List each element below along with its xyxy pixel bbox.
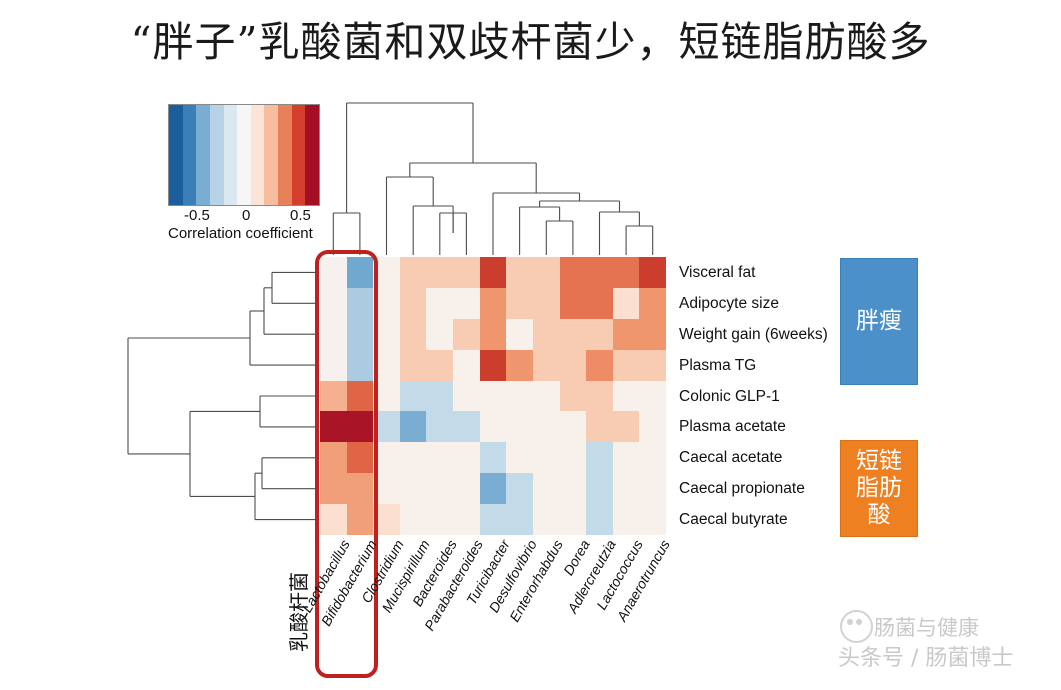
heatmap-cell[interactable] (373, 411, 400, 442)
heatmap-cell[interactable] (639, 442, 666, 473)
watermark: 肠菌与健康 头条号 / 肠菌博士 (838, 604, 1058, 682)
heatmap-cell[interactable] (639, 504, 666, 535)
heatmap-cell[interactable] (426, 350, 453, 381)
heatmap-cell[interactable] (426, 411, 453, 442)
heatmap-cell[interactable] (373, 319, 400, 350)
heatmap-cell[interactable] (613, 442, 640, 473)
heatmap-cell[interactable] (373, 473, 400, 504)
colorbar-band-6 (251, 105, 265, 205)
annotation-box-scfa: 短链脂肪酸 (840, 440, 918, 537)
heatmap-row-label: Caecal acetate (679, 442, 782, 473)
heatmap-cell[interactable] (400, 504, 427, 535)
heatmap-cell[interactable] (506, 319, 533, 350)
heatmap-cell[interactable] (320, 350, 347, 381)
heatmap-cell[interactable] (613, 504, 640, 535)
colorbar-band-5 (237, 105, 251, 205)
page-title: “胖子”乳酸菌和双歧杆菌少，短链脂肪酸多 (0, 8, 1061, 68)
colorbar-tick-0: -0.5 (184, 207, 210, 224)
heatmap-cell[interactable] (373, 257, 400, 288)
heatmap-cell[interactable] (480, 504, 507, 535)
heatmap-cell[interactable] (400, 257, 427, 288)
heatmap-cell[interactable] (453, 257, 480, 288)
heatmap-cell[interactable] (533, 288, 560, 319)
heatmap-cell[interactable] (347, 473, 374, 504)
heatmap-cell[interactable] (586, 473, 613, 504)
heatmap-cell[interactable] (533, 411, 560, 442)
heatmap-cell[interactable] (320, 442, 347, 473)
heatmap-row-label: Colonic GLP-1 (679, 381, 780, 412)
heatmap-cell[interactable] (453, 504, 480, 535)
row-dendrogram (122, 257, 318, 535)
heatmap-cell[interactable] (639, 381, 666, 412)
colorbar-tick-2: 0.5 (290, 207, 311, 224)
heatmap-cell[interactable] (533, 319, 560, 350)
heatmap-cell[interactable] (453, 350, 480, 381)
heatmap-cell[interactable] (506, 257, 533, 288)
heatmap-cell[interactable] (320, 257, 347, 288)
heatmap-row-label: Plasma acetate (679, 411, 786, 442)
heatmap-cell[interactable] (480, 257, 507, 288)
heatmap-cell[interactable] (560, 381, 587, 412)
heatmap-cell[interactable] (586, 381, 613, 412)
heatmap-cell[interactable] (586, 319, 613, 350)
heatmap-cell[interactable] (320, 319, 347, 350)
heatmap-cell[interactable] (613, 473, 640, 504)
colorbar-band-8 (278, 105, 292, 205)
heatmap-cell[interactable] (480, 319, 507, 350)
column-dendrogram (320, 85, 666, 255)
watermark-line-1: 肠菌与健康 (874, 612, 979, 642)
heatmap-cell[interactable] (533, 350, 560, 381)
colorbar-band-7 (264, 105, 278, 205)
heatmap-cell[interactable] (586, 411, 613, 442)
heatmap-cell[interactable] (533, 442, 560, 473)
heatmap-row-label: Caecal butyrate (679, 504, 788, 535)
heatmap-row-label: Visceral fat (679, 257, 755, 288)
heatmap-cell[interactable] (426, 504, 453, 535)
colorbar-band-4 (224, 105, 238, 205)
heatmap-cell[interactable] (400, 350, 427, 381)
heatmap-cell[interactable] (347, 319, 374, 350)
heatmap-cell[interactable] (400, 381, 427, 412)
heatmap-cell[interactable] (613, 257, 640, 288)
heatmap-cell[interactable] (613, 319, 640, 350)
heatmap-cell[interactable] (560, 350, 587, 381)
colorbar-band-0 (169, 105, 183, 205)
heatmap-cell[interactable] (400, 288, 427, 319)
colorbar-gradient (168, 104, 320, 206)
heatmap-cell[interactable] (426, 288, 453, 319)
heatmap-cell[interactable] (400, 411, 427, 442)
heatmap-cell[interactable] (320, 381, 347, 412)
heatmap-cell[interactable] (560, 411, 587, 442)
heatmap-cell[interactable] (533, 381, 560, 412)
heatmap-cell[interactable] (426, 381, 453, 412)
heatmap-cell[interactable] (533, 473, 560, 504)
heatmap-cell[interactable] (560, 504, 587, 535)
heatmap-cell[interactable] (453, 288, 480, 319)
colorbar-tick-1: 0 (242, 207, 250, 224)
heatmap-cell[interactable] (347, 381, 374, 412)
colorbar-band-2 (196, 105, 210, 205)
heatmap-cell[interactable] (320, 504, 347, 535)
annotation-box-scfa-label: 短链脂肪酸 (849, 448, 909, 529)
heatmap-cell[interactable] (560, 473, 587, 504)
correlation-heatmap[interactable] (320, 257, 666, 535)
heatmap-cell[interactable] (426, 442, 453, 473)
heatmap-cell[interactable] (480, 442, 507, 473)
heatmap-cell[interactable] (347, 350, 374, 381)
heatmap-cell[interactable] (613, 411, 640, 442)
heatmap-cell[interactable] (347, 442, 374, 473)
heatmap-cell[interactable] (560, 319, 587, 350)
heatmap-cell[interactable] (320, 288, 347, 319)
heatmap-cell[interactable] (347, 411, 374, 442)
watermark-line-2: 头条号 / 肠菌博士 (838, 640, 1013, 672)
heatmap-cell[interactable] (639, 257, 666, 288)
heatmap-cell[interactable] (453, 381, 480, 412)
colorbar-band-1 (183, 105, 197, 205)
colorbar-band-10 (305, 105, 319, 205)
heatmap-cell[interactable] (347, 288, 374, 319)
heatmap-cell[interactable] (533, 504, 560, 535)
heatmap-cell[interactable] (426, 473, 453, 504)
watermark-logo-icon (840, 610, 873, 643)
heatmap-cell[interactable] (560, 257, 587, 288)
heatmap-cell[interactable] (639, 319, 666, 350)
heatmap-cell[interactable] (453, 473, 480, 504)
heatmap-cell[interactable] (613, 350, 640, 381)
heatmap-cell[interactable] (373, 288, 400, 319)
heatmap-cell[interactable] (639, 350, 666, 381)
heatmap-cell[interactable] (480, 473, 507, 504)
heatmap-cell[interactable] (506, 288, 533, 319)
heatmap-cell[interactable] (400, 442, 427, 473)
heatmap-row-label: Plasma TG (679, 350, 756, 381)
heatmap-cell[interactable] (480, 381, 507, 412)
colorbar-tick-labels: -0.500.5 (168, 206, 320, 226)
vertical-chinese-label: 乳酸杆菌 (283, 572, 312, 652)
colorbar-legend: -0.500.5 Correlation coefficient (168, 104, 320, 242)
heatmap-cell[interactable] (586, 350, 613, 381)
heatmap-cell[interactable] (506, 411, 533, 442)
heatmap-cell[interactable] (400, 319, 427, 350)
heatmap-cell[interactable] (560, 442, 587, 473)
heatmap-cell[interactable] (639, 411, 666, 442)
heatmap-cell[interactable] (453, 319, 480, 350)
heatmap-cell[interactable] (320, 473, 347, 504)
annotation-box-obesity: 胖瘦 (840, 258, 918, 385)
colorbar-band-3 (210, 105, 224, 205)
heatmap-cell[interactable] (533, 257, 560, 288)
heatmap-cell[interactable] (586, 288, 613, 319)
heatmap-cell[interactable] (426, 319, 453, 350)
colorbar-band-9 (292, 105, 306, 205)
heatmap-row-label: Adipocyte size (679, 288, 779, 319)
heatmap-cell[interactable] (453, 442, 480, 473)
heatmap-cell[interactable] (639, 473, 666, 504)
heatmap-cell[interactable] (506, 504, 533, 535)
heatmap-cell[interactable] (506, 350, 533, 381)
heatmap-cell[interactable] (347, 504, 374, 535)
heatmap-cell[interactable] (613, 288, 640, 319)
annotation-box-obesity-label: 胖瘦 (849, 308, 909, 335)
heatmap-cell[interactable] (400, 473, 427, 504)
heatmap-cell[interactable] (426, 257, 453, 288)
heatmap-row-label: Caecal propionate (679, 473, 805, 504)
heatmap-cell[interactable] (506, 381, 533, 412)
heatmap-row-label: Weight gain (6weeks) (679, 319, 828, 350)
heatmap-cell[interactable] (373, 350, 400, 381)
heatmap-cell[interactable] (586, 442, 613, 473)
heatmap-cell[interactable] (639, 288, 666, 319)
heatmap-cell[interactable] (506, 473, 533, 504)
heatmap-cell[interactable] (373, 442, 400, 473)
heatmap-cell[interactable] (506, 442, 533, 473)
colorbar-caption: Correlation coefficient (168, 225, 328, 242)
heatmap-cell[interactable] (613, 381, 640, 412)
heatmap-cell[interactable] (373, 381, 400, 412)
heatmap-cell[interactable] (586, 257, 613, 288)
heatmap-cell[interactable] (560, 288, 587, 319)
heatmap-cell[interactable] (586, 504, 613, 535)
heatmap-cell[interactable] (347, 257, 374, 288)
heatmap-cell[interactable] (453, 411, 480, 442)
heatmap-column-labels: LactobacillusBifidobacteriumClostridiumM… (320, 537, 666, 687)
heatmap-cell[interactable] (480, 411, 507, 442)
heatmap-cell[interactable] (480, 350, 507, 381)
heatmap-cell[interactable] (373, 504, 400, 535)
heatmap-cell[interactable] (320, 411, 347, 442)
heatmap-cell[interactable] (480, 288, 507, 319)
